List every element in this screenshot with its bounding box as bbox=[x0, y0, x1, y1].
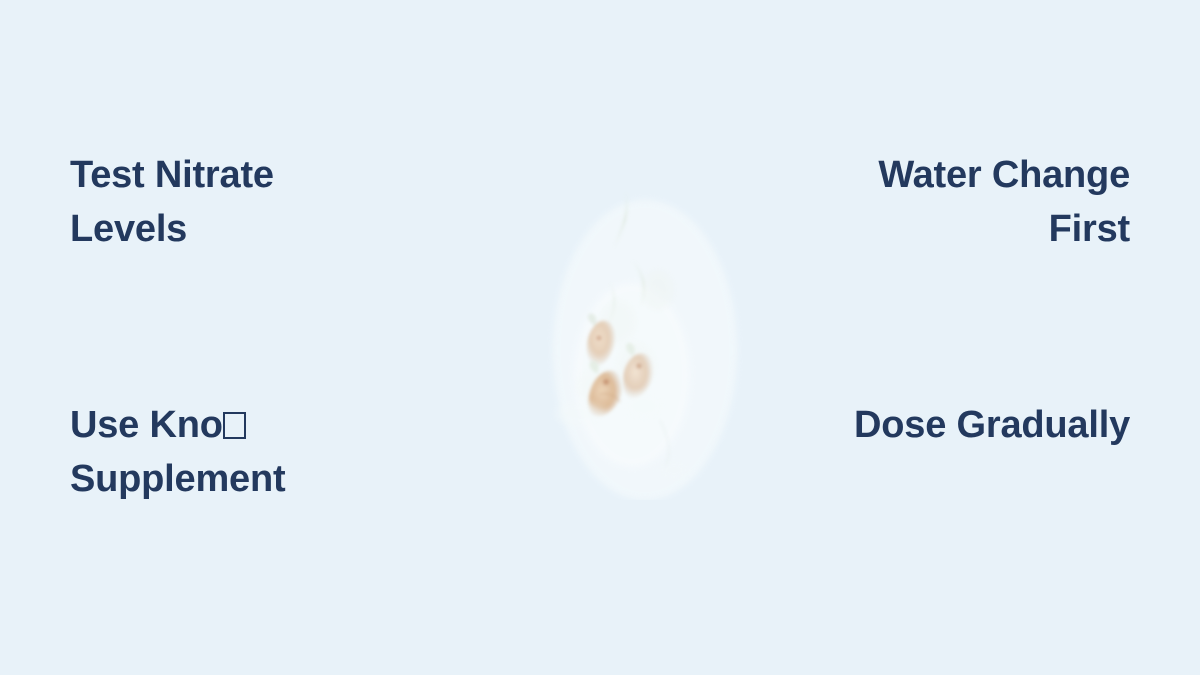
tip-line-text: Use Kno bbox=[70, 404, 223, 446]
infographic-canvas: Test Nitrate Levels Water Change First U… bbox=[0, 0, 1200, 675]
tip-line: First bbox=[700, 202, 1130, 256]
tip-line: Supplement bbox=[70, 452, 500, 506]
tip-test-nitrate-levels: Test Nitrate Levels bbox=[70, 148, 500, 256]
missing-glyph-box-icon bbox=[223, 412, 247, 439]
tip-line: Levels bbox=[70, 202, 500, 256]
tip-water-change-first: Water Change First bbox=[700, 148, 1130, 256]
tip-line: Water Change bbox=[700, 148, 1130, 202]
tip-line-with-missing-glyph: Use Kno bbox=[70, 398, 500, 452]
tip-dose-gradually: Dose Gradually bbox=[700, 398, 1130, 452]
tip-use-known-supplement: Use Kno Supplement bbox=[70, 398, 500, 506]
tip-line: Dose Gradually bbox=[700, 398, 1130, 452]
tip-line: Test Nitrate bbox=[70, 148, 500, 202]
